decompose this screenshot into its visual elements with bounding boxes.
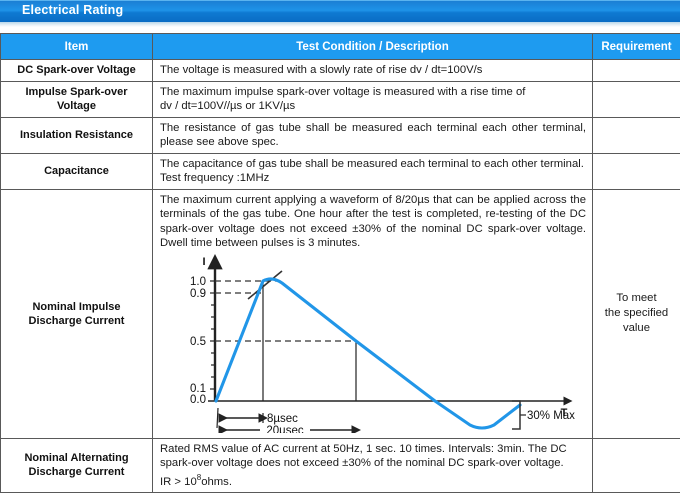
item-line-1: Nominal Impulse [5,300,148,314]
desc-line-2: Test frequency :1MHz [160,171,586,186]
table-row: Nominal Alternating Discharge Current Ra… [1,438,680,492]
desc-capacitance: The capacitance of gas tube shall be mea… [153,153,593,189]
ir-value-prefix: IR > 10 [160,475,197,487]
y-tick-0.0: 0.0 [190,394,206,406]
impulse-waveform-chart: I T [160,253,586,435]
table-header-row: Item Test Condition / Description Requir… [1,34,680,60]
desc-impulse-spark-over-voltage: The maximum impulse spark-over voltage i… [153,81,593,117]
table-row: Impulse Spark-over Voltage The maximum i… [1,81,680,117]
column-header-requirement: Requirement [593,34,680,60]
desc-paragraph: The maximum current applying a waveform … [160,193,586,251]
item-line-1: Nominal Alternating [5,451,148,465]
table-header: Item Test Condition / Description Requir… [1,34,680,60]
item-nominal-impulse-discharge-current: Nominal Impulse Discharge Current [1,189,153,438]
desc-nominal-impulse-discharge-current: The maximum current applying a waveform … [153,189,593,438]
annotation-label-30pct-max: 30% Max [527,410,575,422]
y-tick-1.0: 1.0 [190,276,206,288]
item-line-2: Voltage [5,99,148,113]
y-axis-label: I [202,256,205,268]
desc-line-1: The maximum impulse spark-over voltage i… [160,85,586,100]
table-row: Nominal Impulse Discharge Current The ma… [1,189,680,438]
y-tick-0.5: 0.5 [190,336,206,348]
desc-line-1: Rated RMS value of AC current at 50Hz, 1… [160,442,586,471]
impulse-current-curve [216,278,520,427]
item-capacitance: Capacitance [1,153,153,189]
dashed-guides [215,281,356,341]
req-capacitance [593,153,680,189]
req-nominal-alternating-discharge-current [593,438,680,492]
ir-value-suffix: ohms. [201,475,232,487]
item-line-1: Impulse Spark-over [5,85,148,99]
page-title: Electrical Rating [22,3,123,17]
dimension-label-8usec: 8µsec [267,413,298,425]
table-row: Capacitance The capacitance of gas tube … [1,153,680,189]
title-bar-shadow [0,22,680,27]
electrical-rating-table: Item Test Condition / Description Requir… [0,33,680,493]
item-line-2: Discharge Current [5,314,148,328]
desc-line-2: IR > 108ohms. [160,471,586,489]
item-line-2: Discharge Current [5,465,148,479]
desc-line-2: dv / dt=100V//µs or 1KV/µs [160,99,586,114]
item-insulation-resistance: Insulation Resistance [1,117,153,153]
desc-line-1: The capacitance of gas tube shall be mea… [160,157,586,172]
column-header-item: Item [1,34,153,60]
req-nominal-impulse-discharge-current: To meet the specified value [593,189,680,438]
req-line-1: To meet [597,291,676,306]
tangent-line [248,271,282,299]
desc-nominal-alternating-discharge-current: Rated RMS value of AC current at 50Hz, 1… [153,438,593,492]
req-impulse-spark-over-voltage [593,81,680,117]
table-row: DC Spark-over Voltage The voltage is mea… [1,60,680,82]
column-header-test-condition: Test Condition / Description [153,34,593,60]
dimension-label-20usec: 20µsec [266,425,304,433]
desc-insulation-resistance: The resistance of gas tube shall be meas… [153,117,593,153]
item-dc-spark-over-voltage: DC Spark-over Voltage [1,60,153,82]
y-tick-0.9: 0.9 [190,288,206,300]
item-nominal-alternating-discharge-current: Nominal Alternating Discharge Current [1,438,153,492]
waveform-svg: I T [160,253,588,433]
req-line-3: value [597,321,676,336]
item-impulse-spark-over-voltage: Impulse Spark-over Voltage [1,81,153,117]
desc-dc-spark-over-voltage: The voltage is measured with a slowly ra… [153,60,593,82]
req-insulation-resistance [593,117,680,153]
dimension-20usec: 20µsec [220,425,353,433]
req-line-2: the specified [597,306,676,321]
req-dc-spark-over-voltage [593,60,680,82]
table-body: DC Spark-over Voltage The voltage is mea… [1,60,680,493]
table-row: Insulation Resistance The resistance of … [1,117,680,153]
